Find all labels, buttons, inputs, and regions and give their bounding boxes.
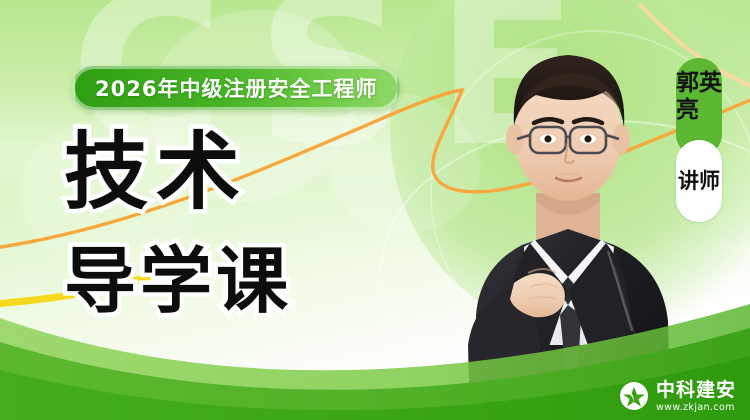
brand-logo-text: 中科建安 www.zkjan.com: [656, 381, 736, 413]
instructor-role: 讲师: [676, 140, 722, 222]
course-badge-label: 2026年中级注册安全工程师: [95, 73, 377, 103]
brand-logo[interactable]: 中科建安 www.zkjan.com: [619, 381, 736, 413]
page-subtitle: 导学课: [64, 245, 292, 317]
page-title: 技术: [64, 132, 248, 213]
instructor-badge: 郭英亮 讲师: [676, 58, 722, 157]
brand-name: 中科建安: [656, 381, 736, 400]
star-arrow-icon: [619, 381, 649, 411]
course-badge: 2026年中级注册安全工程师: [72, 66, 400, 110]
brand-url: www.zkjan.com: [656, 403, 736, 413]
course-poster: CSE: [0, 0, 750, 420]
